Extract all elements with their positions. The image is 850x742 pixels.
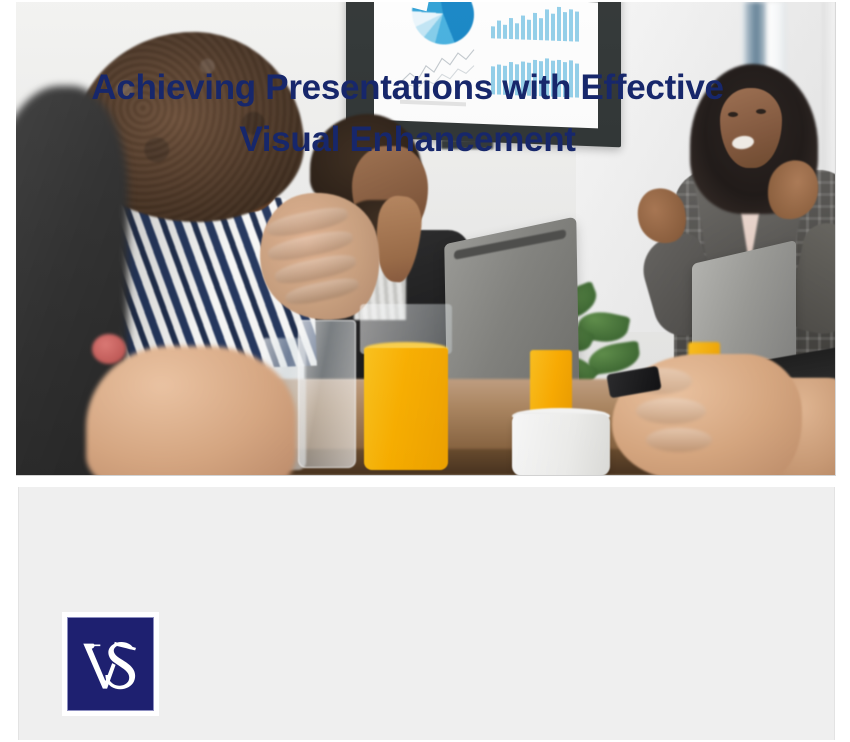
page-title: Achieving Presentations with Effective V… bbox=[24, 62, 791, 166]
logo-container bbox=[62, 612, 159, 716]
white-coffee-mug bbox=[512, 414, 610, 475]
foreground-hand-left bbox=[86, 346, 296, 475]
slide-canvas: Achieving Presentations with Effective V… bbox=[0, 0, 850, 742]
orange-juice-glass-large bbox=[364, 348, 448, 470]
logo-tile bbox=[67, 617, 154, 711]
red-fingernail bbox=[92, 334, 126, 364]
vs-monogram-icon bbox=[68, 618, 153, 710]
water-glass-front bbox=[298, 320, 356, 468]
bar-chart-top bbox=[491, 4, 579, 41]
